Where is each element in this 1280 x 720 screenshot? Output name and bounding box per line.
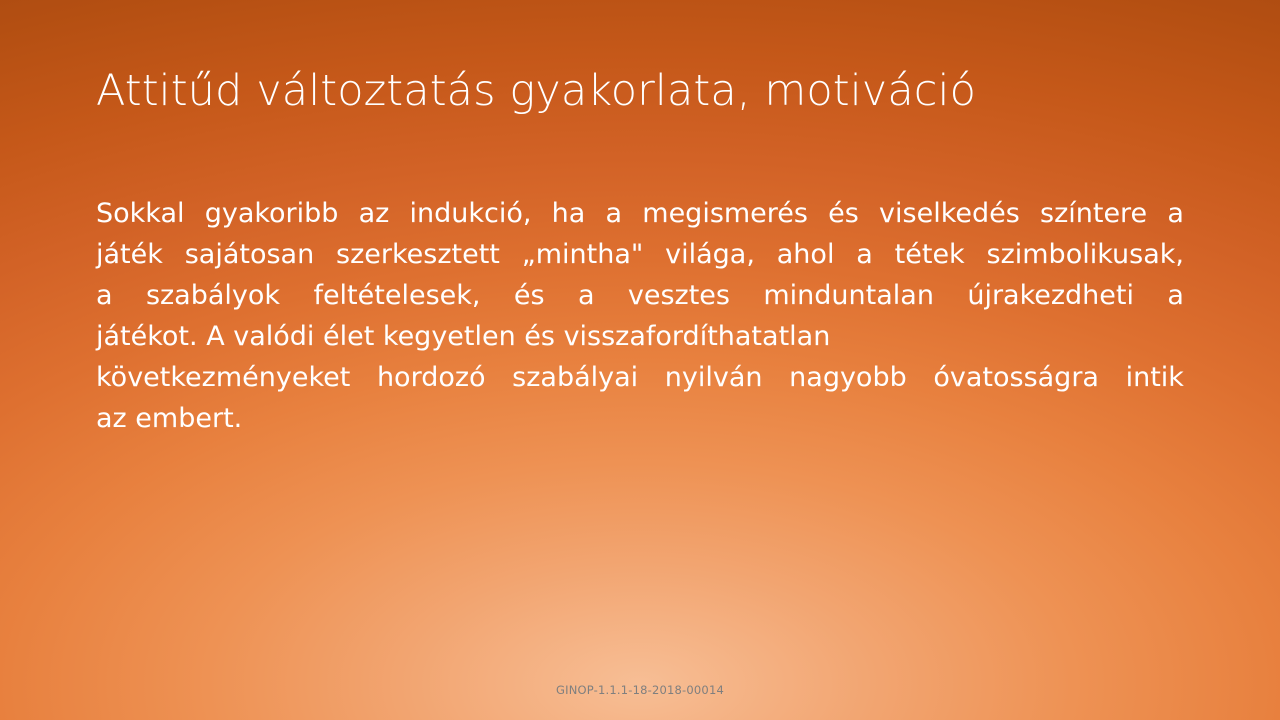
body-text-line: játékot. A valódi élet kegyetlen és viss… xyxy=(96,316,1184,357)
body-word: feltételesek, xyxy=(313,275,480,316)
body-word: tétek xyxy=(895,234,965,275)
body-word: hordozó xyxy=(377,357,486,398)
body-word: indukció, xyxy=(410,193,532,234)
body-word: színtere xyxy=(1040,193,1147,234)
body-word: nyilván xyxy=(665,357,763,398)
body-placeholder[interactable]: Sokkalgyakoribbazindukció,haamegismerésé… xyxy=(96,193,1184,439)
body-word: „mintha" xyxy=(522,234,644,275)
body-word: a xyxy=(856,234,873,275)
body-word: minduntalan xyxy=(763,275,934,316)
body-word: a xyxy=(96,275,113,316)
body-word: és xyxy=(828,193,859,234)
body-paragraph: Sokkalgyakoribbazindukció,haamegismerésé… xyxy=(96,193,1184,439)
body-text-line: Sokkalgyakoribbazindukció,haamegismerésé… xyxy=(96,193,1184,234)
body-word: a xyxy=(606,193,623,234)
body-word: Sokkal xyxy=(96,193,185,234)
body-word: gyakoribb xyxy=(205,193,339,234)
body-text-line: az embert. xyxy=(96,398,1184,439)
project-identifier-footer: GINOP-1.1.1-18-2018-00014 xyxy=(556,683,724,697)
slide-title: Attitűd változtatás gyakorlata, motiváci… xyxy=(96,66,1186,117)
body-word: következményeket xyxy=(96,357,350,398)
body-word: szabályok xyxy=(146,275,280,316)
body-word: ha xyxy=(552,193,586,234)
body-word: szabályai xyxy=(512,357,638,398)
body-word: viselkedés xyxy=(879,193,1020,234)
body-word: és xyxy=(514,275,545,316)
body-word: megismerés xyxy=(642,193,808,234)
body-text-line: következményekethordozószabályainyilvánn… xyxy=(96,357,1184,398)
body-word: játék xyxy=(96,234,163,275)
body-text-line: aszabályokfeltételesek,ésavesztesmindunt… xyxy=(96,275,1184,316)
body-word: vesztes xyxy=(628,275,730,316)
title-placeholder[interactable]: Attitűd változtatás gyakorlata, motiváci… xyxy=(96,66,1186,117)
body-word: ahol xyxy=(777,234,835,275)
body-word: óvatosságra xyxy=(933,357,1099,398)
body-word: sajátosan xyxy=(185,234,315,275)
body-word: az xyxy=(359,193,390,234)
body-word: a xyxy=(578,275,595,316)
body-word: a xyxy=(1167,275,1184,316)
body-word: szerkesztett xyxy=(336,234,500,275)
body-word: újrakezdheti xyxy=(967,275,1134,316)
body-word: a xyxy=(1167,193,1184,234)
body-word: intik xyxy=(1126,357,1184,398)
footer-placeholder: GINOP-1.1.1-18-2018-00014 xyxy=(0,679,1280,698)
presentation-slide: Attitűd változtatás gyakorlata, motiváci… xyxy=(0,0,1280,720)
body-word: világa, xyxy=(665,234,755,275)
body-text-line: játéksajátosanszerkesztett„mintha"világa… xyxy=(96,234,1184,275)
body-word: nagyobb xyxy=(789,357,907,398)
body-word: szimbolikusak, xyxy=(987,234,1184,275)
